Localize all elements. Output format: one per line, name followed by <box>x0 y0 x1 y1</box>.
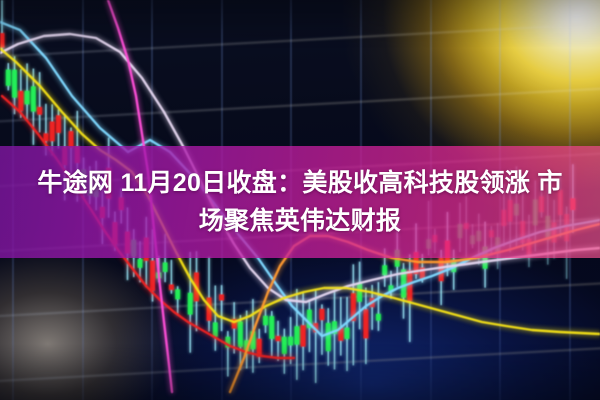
candle-up <box>163 262 168 272</box>
candle-up <box>25 91 30 105</box>
candle-down <box>301 325 306 347</box>
candle-down <box>169 284 174 289</box>
candle-up <box>357 283 362 302</box>
candle-down <box>320 309 325 320</box>
candle-down <box>50 121 55 141</box>
candle-up <box>382 265 387 275</box>
candle-up <box>138 259 143 268</box>
candle-down <box>219 294 224 300</box>
news-banner: 牛途网 11月20日收盘：美股收高科技股领涨 市 场聚焦英伟达财报 <box>0 0 600 400</box>
candle-up <box>263 316 268 325</box>
candle-down <box>0 33 4 48</box>
candle-up <box>188 293 193 315</box>
candle-up <box>288 337 293 346</box>
candle-down <box>407 271 412 301</box>
candle-up <box>238 322 243 347</box>
headline-line-2: 场聚焦英伟达财报 <box>199 202 401 240</box>
candle-up <box>326 323 331 351</box>
candle-down <box>18 91 23 111</box>
candle-down <box>37 107 42 115</box>
candle-up <box>12 70 17 98</box>
candle-down <box>150 261 155 291</box>
candle-down <box>276 336 281 341</box>
candle-up <box>282 337 287 354</box>
headline-band: 牛途网 11月20日收盘：美股收高科技股领涨 市 场聚焦英伟达财报 <box>0 146 600 258</box>
candle-up <box>31 86 36 111</box>
candle-up <box>213 322 218 336</box>
candle-up <box>269 316 274 339</box>
candle-up <box>294 326 299 344</box>
candle-down <box>56 115 61 133</box>
headline-line-1: 牛途网 11月20日收盘：美股收高科技股领涨 市 <box>37 164 562 202</box>
candle-down <box>44 133 49 141</box>
candle-down <box>363 309 368 338</box>
candle-up <box>175 289 180 299</box>
candle-up <box>376 314 381 321</box>
candle-up <box>6 70 11 86</box>
candle-up <box>345 328 350 339</box>
